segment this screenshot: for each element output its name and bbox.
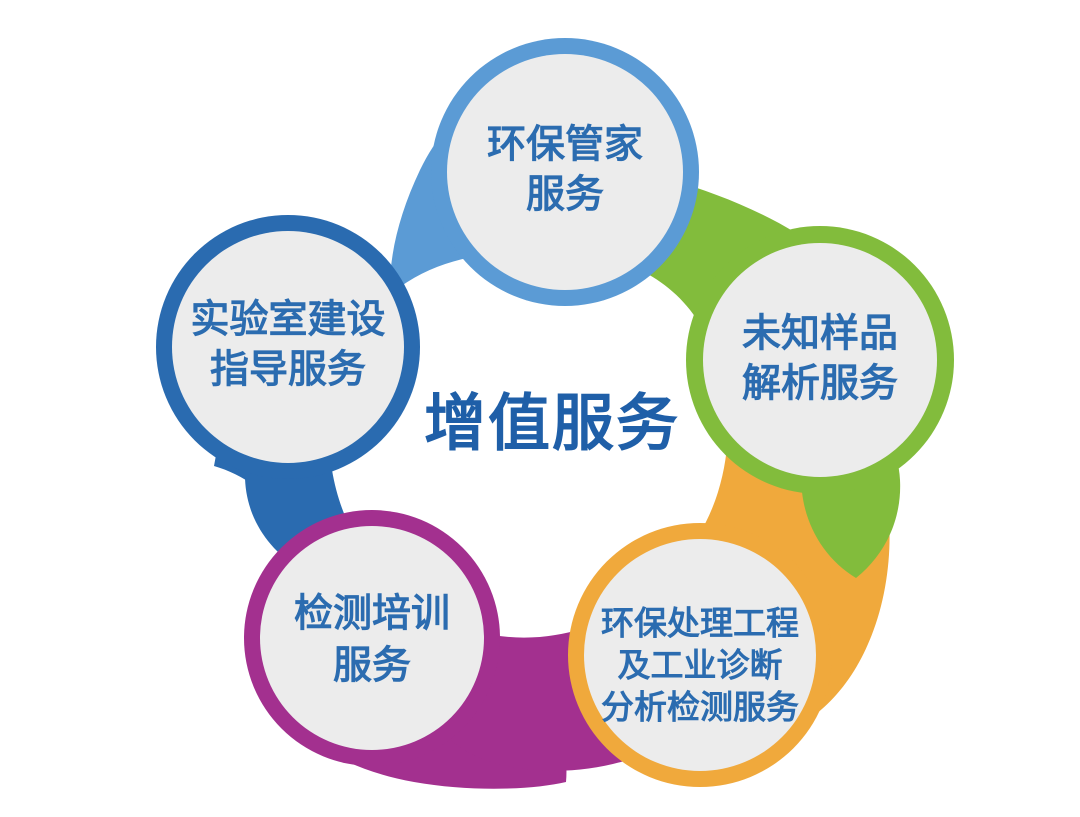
node-label-line: 服务 bbox=[526, 173, 604, 216]
node-label-line: 环保管家 bbox=[487, 123, 643, 166]
node-shiyanshi-jianshe[interactable]: 实验室建设 指导服务 bbox=[156, 215, 420, 479]
node-label-line: 指导服务 bbox=[210, 348, 366, 391]
node-face-bottom-left bbox=[260, 526, 484, 750]
diagram-canvas: 环保管家 服务 未知样品 解析服务 环保处理工程 及工业诊断 分析检测服务 检测… bbox=[0, 0, 1080, 817]
node-face-left bbox=[172, 231, 404, 463]
node-label-line: 检测培训 bbox=[294, 592, 450, 635]
node-label-line: 环保处理工程 bbox=[601, 605, 799, 642]
node-huanbao-chuli[interactable]: 环保处理工程 及工业诊断 分析检测服务 bbox=[568, 523, 832, 787]
node-label-line: 服务 bbox=[333, 644, 411, 687]
node-weizhi-yangpin[interactable]: 未知样品 解析服务 bbox=[686, 226, 954, 494]
node-huanbao-guanjia[interactable]: 环保管家 服务 bbox=[431, 38, 699, 306]
center-title: 增值服务 bbox=[424, 389, 680, 458]
node-label-line: 及工业诊断 bbox=[618, 647, 783, 684]
radial-petal-diagram: 环保管家 服务 未知样品 解析服务 环保处理工程 及工业诊断 分析检测服务 检测… bbox=[0, 0, 1080, 817]
node-label-line: 实验室建设 bbox=[190, 298, 385, 341]
node-label-line: 解析服务 bbox=[742, 362, 898, 405]
node-label-line: 分析检测服务 bbox=[601, 689, 799, 726]
node-jiance-peixun[interactable]: 检测培训 服务 bbox=[244, 510, 500, 766]
node-face-top bbox=[447, 54, 683, 290]
node-face-right bbox=[703, 243, 937, 477]
node-label-line: 未知样品 bbox=[742, 312, 898, 355]
